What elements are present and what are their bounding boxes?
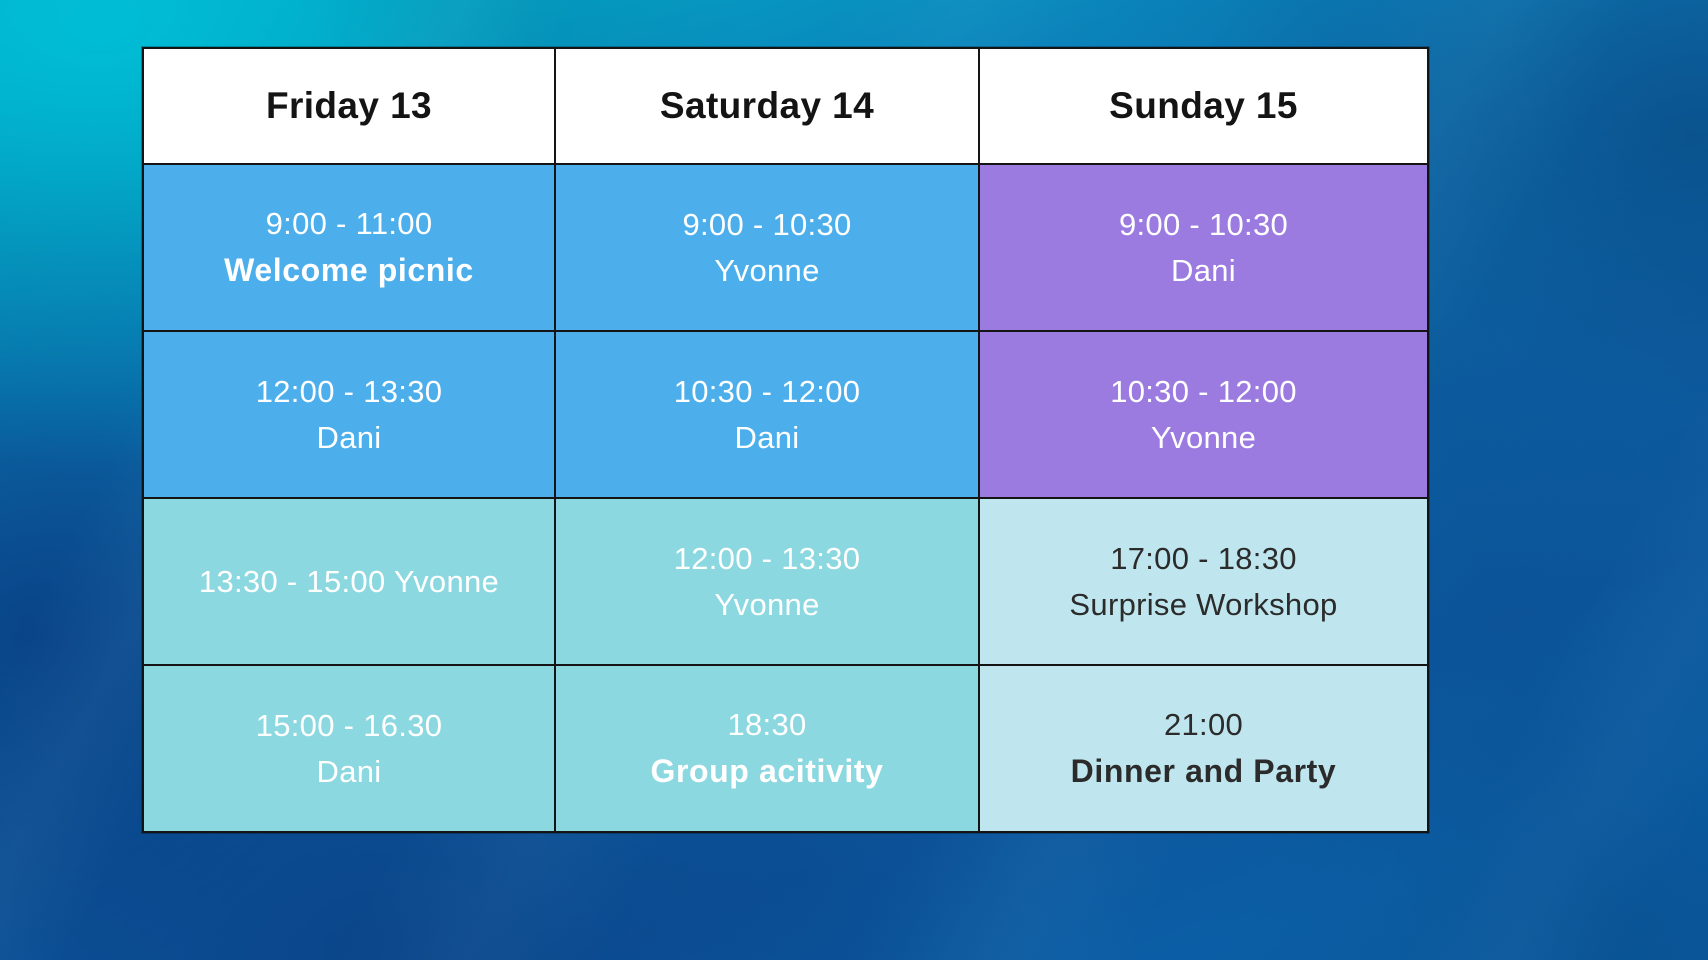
schedule-cell-sunday-3[interactable]: 17:00 - 18:30Surprise Workshop	[979, 498, 1428, 665]
schedule-cell-time: 10:30 - 12:00	[674, 372, 861, 412]
schedule-cell-content: 12:00 - 13:30Yvonne	[556, 499, 978, 664]
schedule-cell-content: 10:30 - 12:00Yvonne	[980, 332, 1427, 497]
schedule-cell-time: 12:00 - 13:30	[674, 539, 861, 579]
schedule-cell-label: Surprise Workshop	[1069, 585, 1337, 625]
schedule-cell-content: 21:00Dinner and Party	[980, 666, 1427, 831]
table-body: 9:00 - 11:00Welcome picnic9:00 - 10:30Yv…	[143, 164, 1428, 832]
schedule-cell-label: Dinner and Party	[1071, 751, 1337, 792]
schedule-cell-label: Dani	[317, 418, 382, 458]
schedule-cell-time: 9:00 - 11:00	[266, 204, 433, 244]
schedule-cell-time: 9:00 - 10:30	[682, 205, 851, 245]
schedule-cell-time: 10:30 - 12:00	[1110, 372, 1297, 412]
table-row: 9:00 - 11:00Welcome picnic9:00 - 10:30Yv…	[143, 164, 1428, 331]
schedule-cell-label: Yvonne	[1151, 418, 1256, 458]
schedule-cell-label: Dani	[735, 418, 800, 458]
schedule-cell-content: 13:30 - 15:00 Yvonne	[144, 499, 554, 664]
table-row: 12:00 - 13:30Dani10:30 - 12:00Dani10:30 …	[143, 331, 1428, 498]
schedule-cell-friday-2[interactable]: 12:00 - 13:30Dani	[143, 331, 555, 498]
schedule-cell-saturday-2[interactable]: 10:30 - 12:00Dani	[555, 331, 979, 498]
schedule-cell-time: 18:30	[727, 705, 806, 745]
table-header-row: Friday 13 Saturday 14 Sunday 15	[143, 48, 1428, 164]
schedule-cell-friday-3[interactable]: 13:30 - 15:00 Yvonne	[143, 498, 555, 665]
schedule-cell-content: 9:00 - 10:30Yvonne	[556, 165, 978, 330]
schedule-cell-content: 10:30 - 12:00Dani	[556, 332, 978, 497]
schedule-cell-time: 17:00 - 18:30	[1110, 539, 1297, 579]
column-header-saturday: Saturday 14	[555, 48, 979, 164]
column-header-sunday: Sunday 15	[979, 48, 1428, 164]
table-row: 15:00 - 16.30Dani18:30Group acitivity21:…	[143, 665, 1428, 832]
schedule-cell-sunday-1[interactable]: 9:00 - 10:30Dani	[979, 164, 1428, 331]
weekend-schedule-table: Friday 13 Saturday 14 Sunday 15 9:00 - 1…	[142, 47, 1429, 833]
schedule-cell-time: 21:00	[1164, 705, 1243, 745]
schedule-cell-sunday-4[interactable]: 21:00Dinner and Party	[979, 665, 1428, 832]
schedule-cell-saturday-4[interactable]: 18:30Group acitivity	[555, 665, 979, 832]
schedule-cell-label: Yvonne	[714, 585, 819, 625]
schedule-cell-label: Dani	[317, 752, 382, 792]
schedule-cell-time: 15:00 - 16.30	[256, 706, 443, 746]
schedule-cell-label: Yvonne	[714, 251, 819, 291]
table-row: 13:30 - 15:00 Yvonne12:00 - 13:30Yvonne1…	[143, 498, 1428, 665]
schedule-cell-content: 15:00 - 16.30Dani	[144, 666, 554, 831]
schedule-cell-label: Group acitivity	[650, 751, 883, 792]
schedule-cell-content: 9:00 - 11:00Welcome picnic	[144, 165, 554, 330]
schedule-cell-saturday-3[interactable]: 12:00 - 13:30Yvonne	[555, 498, 979, 665]
schedule-cell-time: 13:30 - 15:00 Yvonne	[199, 562, 499, 602]
schedule-cell-content: 9:00 - 10:30Dani	[980, 165, 1427, 330]
schedule-cell-saturday-1[interactable]: 9:00 - 10:30Yvonne	[555, 164, 979, 331]
schedule-cell-time: 9:00 - 10:30	[1119, 205, 1288, 245]
column-header-friday: Friday 13	[143, 48, 555, 164]
schedule-cell-content: 17:00 - 18:30Surprise Workshop	[980, 499, 1427, 664]
schedule-cell-friday-4[interactable]: 15:00 - 16.30Dani	[143, 665, 555, 832]
schedule-cell-sunday-2[interactable]: 10:30 - 12:00Yvonne	[979, 331, 1428, 498]
schedule-cell-friday-1[interactable]: 9:00 - 11:00Welcome picnic	[143, 164, 555, 331]
schedule-cell-label: Welcome picnic	[224, 250, 474, 291]
schedule-cell-time: 12:00 - 13:30	[256, 372, 443, 412]
schedule-cell-content: 18:30Group acitivity	[556, 666, 978, 831]
schedule-cell-label: Dani	[1171, 251, 1236, 291]
schedule-cell-content: 12:00 - 13:30Dani	[144, 332, 554, 497]
